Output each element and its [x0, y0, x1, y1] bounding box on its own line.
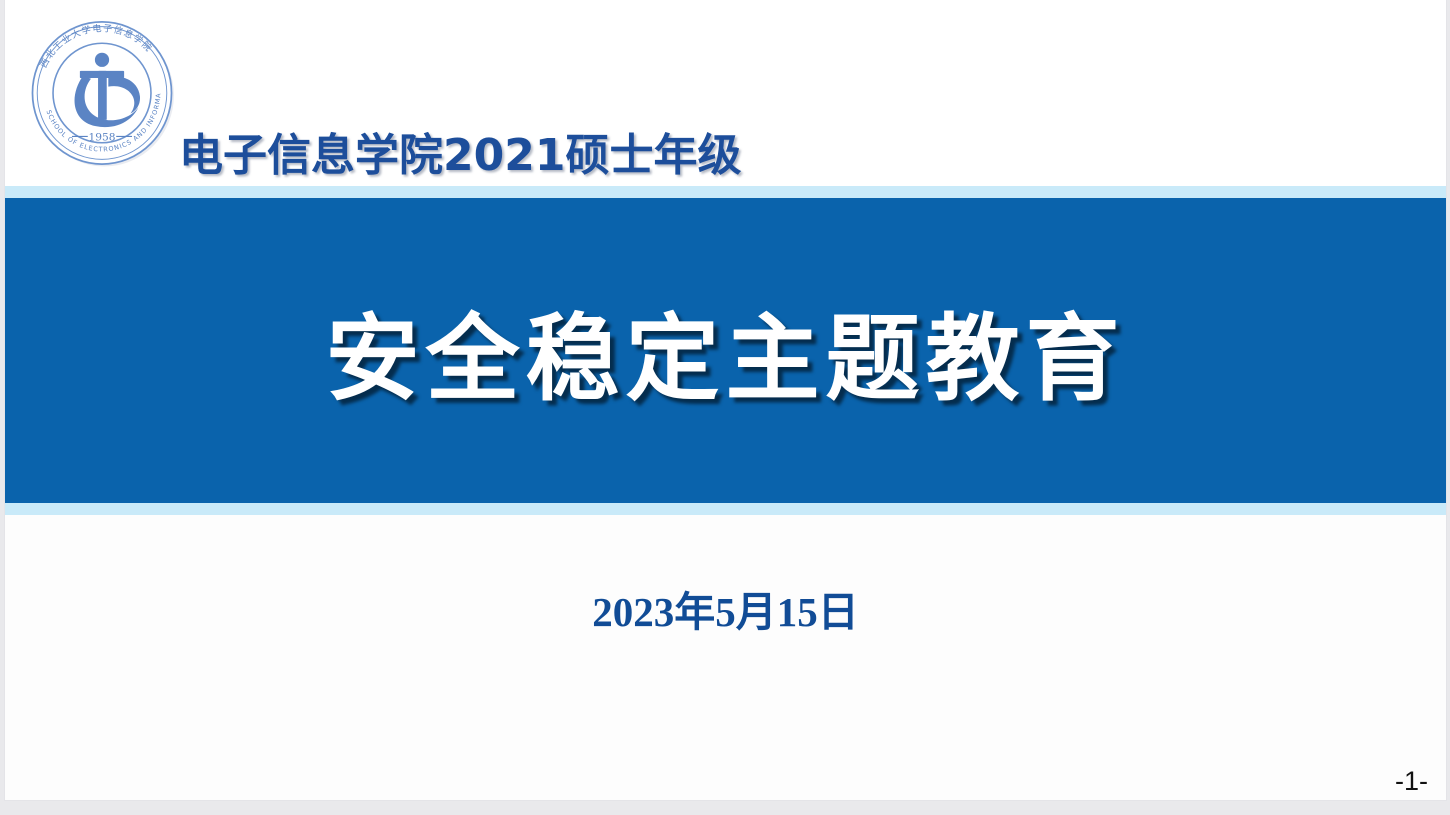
slide-main-title: 安全稳定主题教育: [5, 198, 1446, 503]
school-crest-logo-icon: 西北工业大学电子信息学院 SCHOOL OF ELECTRONICS AND I…: [23, 14, 181, 172]
presentation-slide: 西北工业大学电子信息学院 SCHOOL OF ELECTRONICS AND I…: [0, 0, 1450, 815]
header-organization-title: 电子信息学院2021硕士年级: [179, 119, 741, 183]
separator-band-bottom: [5, 503, 1446, 515]
slide-date: 2023年5月15日: [5, 578, 1446, 638]
page-number: -1-: [1395, 766, 1428, 797]
title-banner: 安全稳定主题教育: [5, 198, 1446, 503]
separator-band-top: [5, 186, 1446, 198]
svg-text:1958: 1958: [88, 130, 115, 143]
slide-header: 西北工业大学电子信息学院 SCHOOL OF ELECTRONICS AND I…: [5, 0, 1446, 186]
slide-page: 西北工业大学电子信息学院 SCHOOL OF ELECTRONICS AND I…: [5, 0, 1446, 800]
